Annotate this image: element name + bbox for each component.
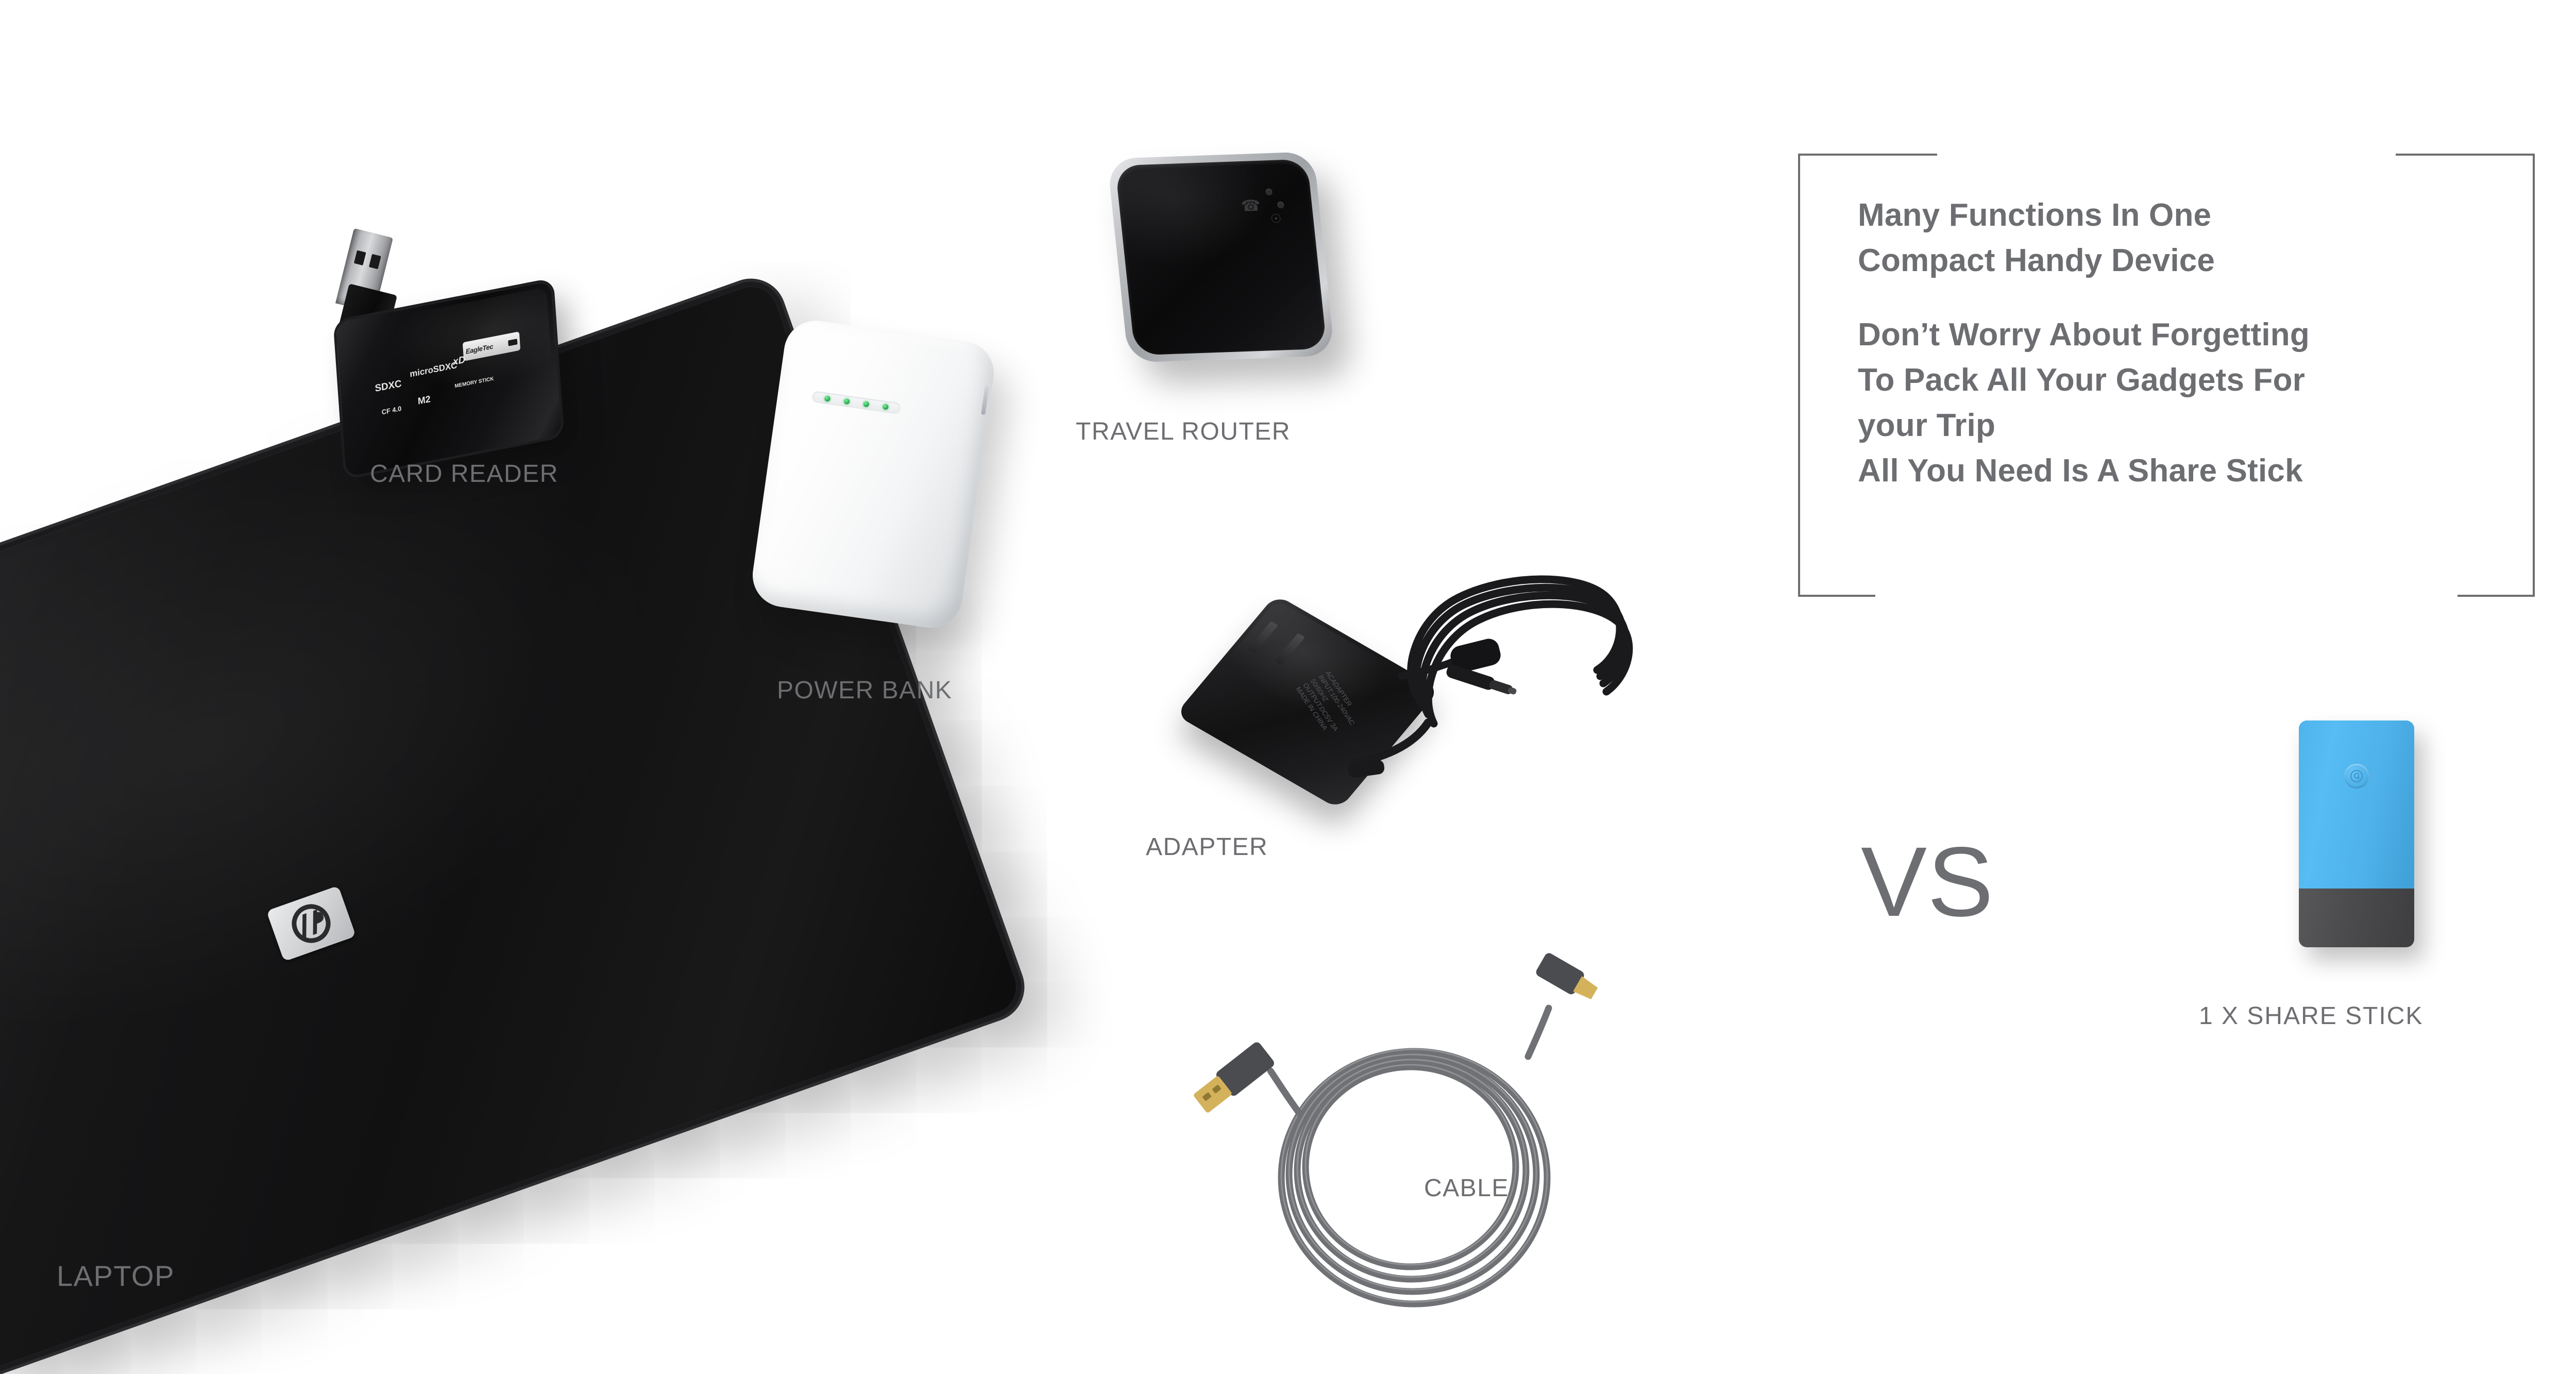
frame-bottom-right-segment — [2458, 595, 2535, 597]
callout-line: Don’t Worry About Forgetting — [1858, 312, 2492, 358]
sdxc-icon: SDXC — [375, 379, 402, 394]
callout-text-block: Many Functions In One Compact Handy Devi… — [1858, 193, 2492, 494]
power-bank-port — [981, 386, 989, 415]
led-indicator — [843, 398, 850, 404]
frame-bottom-left-segment — [1798, 595, 1875, 597]
power-icon: ☉ — [1270, 213, 1282, 226]
callout-box: Many Functions In One Compact Handy Devi… — [1798, 154, 2535, 597]
laptop-label: LAPTOP — [57, 1262, 175, 1291]
share-stick-body — [2299, 720, 2414, 947]
memorystick-icon: MEMORY STICK — [454, 377, 494, 390]
callout-paragraph-spacer — [1858, 283, 2492, 312]
travel-router-label: TRAVEL ROUTER — [1076, 420, 1291, 444]
frame-left-edge — [1798, 154, 1800, 597]
cf-icon: CF 4.0 — [381, 405, 401, 416]
m2-icon: M2 — [417, 394, 431, 406]
adapter-label: ADAPTER — [1146, 835, 1268, 860]
power-bank-product — [762, 325, 1051, 675]
callout-line: To Pack All Your Gadgets For — [1858, 358, 2492, 403]
usb-cable-product — [1180, 907, 1643, 1371]
share-stick-label: 1 X SHARE STICK — [2199, 1004, 2423, 1029]
callout-line: All You Need Is A Share Stick — [1858, 448, 2492, 494]
share-stick-logo-icon — [2344, 764, 2369, 789]
frame-right-edge — [2533, 154, 2535, 597]
callout-line: Many Functions In One — [1858, 193, 2492, 238]
share-stick-product — [2287, 716, 2442, 959]
travel-router-product: ☎ ☉ — [1097, 144, 1386, 433]
adapter-cord — [1340, 541, 1669, 783]
callout-line: your Trip — [1858, 403, 2492, 448]
vs-separator: VS — [1861, 832, 1994, 931]
wifi-icon: ☎ — [1241, 198, 1262, 214]
led-indicator — [882, 404, 888, 410]
travel-router-indicators: ☎ ☉ — [1239, 188, 1300, 230]
led-indicator — [863, 400, 869, 407]
power-adapter-product: ACADAPTER INPUT:100-240VAC 50/60HZ OUTPU… — [1200, 541, 1685, 871]
comparison-graphic: LAPTOP EagleTec SDXC microSDXC xD M2 MEM… — [0, 0, 2576, 1374]
frame-top-right-segment — [2396, 154, 2535, 156]
callout-line: Compact Handy Device — [1858, 238, 2492, 283]
status-dot-icon — [1265, 189, 1273, 195]
card-reader-led — [508, 339, 517, 346]
prong-icon — [1275, 633, 1306, 665]
cable-label: CABLE — [1424, 1176, 1509, 1201]
status-dot-icon — [1277, 202, 1284, 208]
power-bank-label: POWER BANK — [777, 678, 952, 703]
frame-top-left-segment — [1798, 154, 1937, 156]
led-indicator — [824, 395, 830, 401]
card-reader-label: CARD READER — [370, 462, 558, 487]
prong-icon — [1247, 621, 1278, 653]
xd-icon: xD — [453, 355, 466, 367]
card-reader-product: EagleTec SDXC microSDXC xD M2 MEMORY STI… — [330, 227, 618, 443]
usb-a-connector-icon — [1191, 1041, 1276, 1116]
share-stick-top-shell — [2299, 720, 2414, 889]
share-stick-bottom-shell — [2299, 889, 2414, 947]
power-bank-body — [749, 316, 998, 632]
micro-usb-connector-icon — [1534, 951, 1601, 1004]
